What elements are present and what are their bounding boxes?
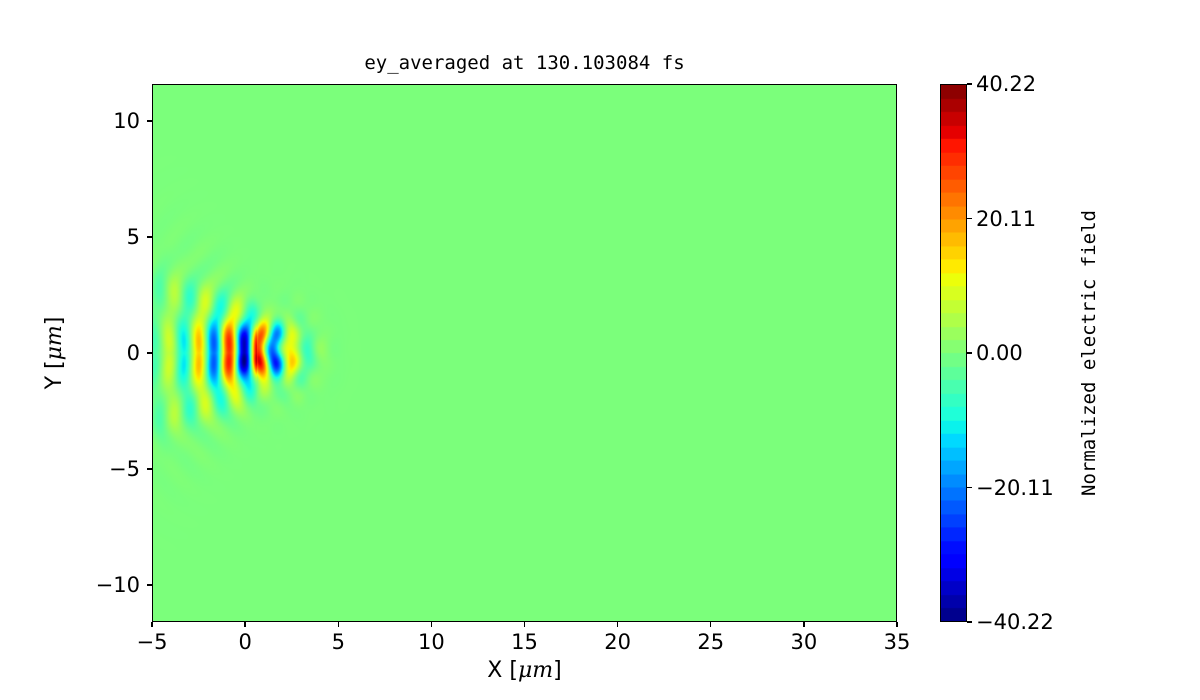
x-tick-label: 25 [697,630,724,654]
y-tick-mark [147,584,152,585]
x-axis-label: X [μm] [152,658,897,683]
x-tick-mark [431,622,432,627]
colorbar-tick-mark [967,621,972,622]
y-tick-mark [147,120,152,121]
x-tick-label: 20 [604,630,631,654]
x-tick-label: 5 [332,630,345,654]
x-tick-mark [617,622,618,627]
x-tick-label: 10 [418,630,445,654]
colorbar-tick-mark [967,218,972,219]
x-axis-label-unit: μm [518,658,553,683]
colorbar-tick-mark [967,352,972,353]
x-tick-mark [524,622,525,627]
x-tick-label: −5 [137,630,168,654]
field-heatmap-canvas [153,85,896,621]
x-tick-mark [151,622,152,627]
x-axis-label-text: X [ [487,658,518,683]
y-tick-mark [147,352,152,353]
colorbar-tick-label: 40.22 [976,72,1036,96]
y-tick-label: 5 [82,225,140,249]
x-tick-mark [244,622,245,627]
colorbar-tick-mark [967,83,972,84]
x-tick-label: 35 [884,630,911,654]
colorbar-gradient-canvas [941,85,966,621]
y-tick-label: −5 [82,457,140,481]
page-title: ey_averaged at 130.103084 fs [152,52,897,74]
y-tick-label: 10 [82,109,140,133]
y-tick-mark [147,236,152,237]
colorbar-tick-label: 0.00 [976,341,1023,365]
heatmap-plot-area [152,84,897,622]
x-tick-label: 15 [511,630,538,654]
colorbar-label: Normalized electric field [1078,210,1100,496]
y-axis-label-unit: μm [42,325,67,360]
x-tick-label: 0 [238,630,251,654]
x-axis-label-bracket: ] [553,658,562,683]
x-tick-label: 30 [791,630,818,654]
x-tick-mark [803,622,804,627]
y-tick-mark [147,468,152,469]
y-axis-label-bracket: ] [42,317,67,326]
x-tick-mark [896,622,897,627]
colorbar [940,84,967,622]
x-tick-mark [710,622,711,627]
colorbar-tick-label: −20.11 [976,476,1054,500]
colorbar-tick-mark [967,487,972,488]
x-tick-mark [338,622,339,627]
colorbar-tick-label: −40.22 [976,610,1054,634]
y-tick-label: −10 [82,573,140,597]
colorbar-tick-label: 20.11 [976,207,1036,231]
y-tick-label: 0 [82,341,140,365]
figure-canvas: ey_averaged at 130.103084 fs −5051015202… [0,0,1200,700]
y-axis-label: Y [μm] [42,317,67,390]
y-axis-label-text: Y [ [42,360,67,389]
